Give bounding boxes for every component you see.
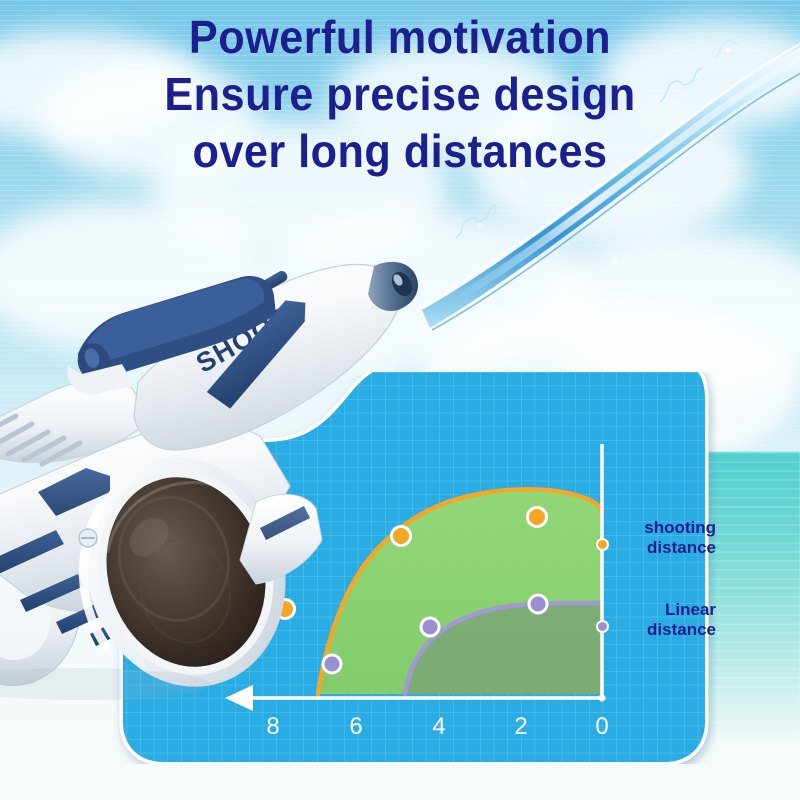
x-tick-label: 2: [514, 713, 527, 740]
x-tick-label: 4: [432, 713, 445, 740]
legend-dot-icon: [596, 620, 609, 633]
legend-item-linear-distance[interactable]: Linear distance: [612, 600, 720, 640]
sky-sparkle: [520, 180, 525, 185]
headline-line-2: Ensure precise design: [24, 71, 776, 118]
legend-label-line1: shooting: [612, 518, 720, 538]
headline-line-1: Powerful motivation: [24, 14, 776, 61]
sky-sparkle: [355, 215, 360, 220]
x-tick-label: 8: [266, 713, 279, 740]
sky-sparkle: [248, 198, 252, 202]
x-tick-label: 0: [595, 713, 608, 740]
legend-label-line2: distance: [612, 538, 720, 558]
legend-label-line2: distance: [612, 620, 720, 640]
water-gun-product-image: SHOOT: [0, 240, 430, 700]
headline-line-3: over long distances: [24, 128, 776, 175]
legend-item-shooting-distance[interactable]: shooting distance: [612, 518, 720, 558]
sky-sparkle: [612, 258, 618, 264]
legend-dot-icon: [596, 538, 609, 551]
legend-label-line1: Linear: [612, 600, 720, 620]
page-title: Powerful motivation Ensure precise desig…: [0, 14, 800, 175]
promo-banner: Powerful motivation Ensure precise desig…: [0, 0, 800, 800]
x-tick-label: 6: [349, 713, 362, 740]
